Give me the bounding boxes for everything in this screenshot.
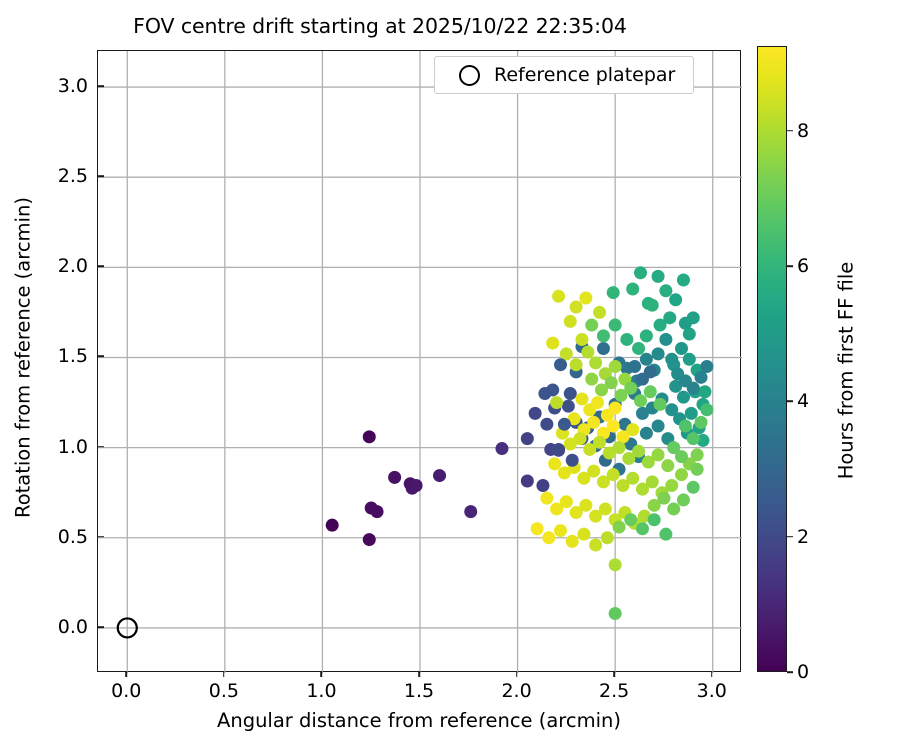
colorbar-tick-label: 8 [797,120,809,142]
page-title: FOV centre drift starting at 2025/10/22 … [0,14,760,38]
x-tick-label: 1.0 [306,680,336,702]
y-tick-label: 0.5 [58,526,88,548]
x-tick-label: 3.0 [697,680,727,702]
x-tick-label: 1.5 [404,680,434,702]
x-tickmark [711,671,713,677]
matplotlib-figure: FOV centre drift starting at 2025/10/22 … [0,0,900,750]
legend-label: Reference platepar [494,64,681,86]
x-tickmark [418,671,420,677]
y-axis-tick-labels: 0.00.51.01.52.02.53.0 [26,50,88,672]
colorbar-tickmark [787,536,793,538]
colorbar-tickmark [787,130,793,132]
y-tickmark [98,356,104,358]
x-tickmark [125,671,127,677]
colorbar-tickmark [787,671,793,673]
plot-axes [97,50,741,672]
y-axis-tickmarks [91,50,97,672]
open-circle-icon [459,65,480,86]
x-tick-label: 2.0 [501,680,531,702]
colorbar: 02468 [757,46,787,672]
x-tick-label: 0.5 [209,680,239,702]
y-tickmark [98,626,104,628]
colorbar-tickmark [787,265,793,267]
x-axis-tick-labels: 0.00.51.01.52.02.53.0 [97,680,741,706]
x-tickmark [223,671,225,677]
y-tick-label: 2.5 [58,165,88,187]
colorbar-tick-label: 6 [797,255,809,277]
colorbar-label: Hours from first FF file [835,58,858,684]
x-axis-tickmarks [97,672,741,680]
x-tickmark [321,671,323,677]
y-tickmark [98,175,104,177]
x-tickmark [516,671,518,677]
y-tickmark [98,446,104,448]
colorbar-tick-label: 4 [797,390,809,412]
colorbar-tickmark [787,401,793,403]
y-tick-label: 1.0 [58,436,88,458]
y-tickmark [98,85,104,87]
y-tick-label: 0.0 [58,616,88,638]
legend[interactable]: Reference platepar [434,56,694,94]
x-tick-label: 0.0 [111,680,141,702]
scatter-points-layer [98,51,740,671]
y-tick-label: 2.0 [58,255,88,277]
colorbar-tick-label: 0 [797,661,809,683]
y-tickmark [98,266,104,268]
y-tick-label: 1.5 [58,345,88,367]
y-tick-label: 3.0 [58,75,88,97]
colorbar-gradient [757,46,787,672]
x-tickmark [613,671,615,677]
x-axis-label: Angular distance from reference (arcmin) [97,709,741,732]
colorbar-tick-label: 2 [797,526,809,548]
x-tick-label: 2.5 [599,680,629,702]
y-axis-label: Rotation from reference (arcmin) [12,47,35,669]
y-tickmark [98,536,104,538]
